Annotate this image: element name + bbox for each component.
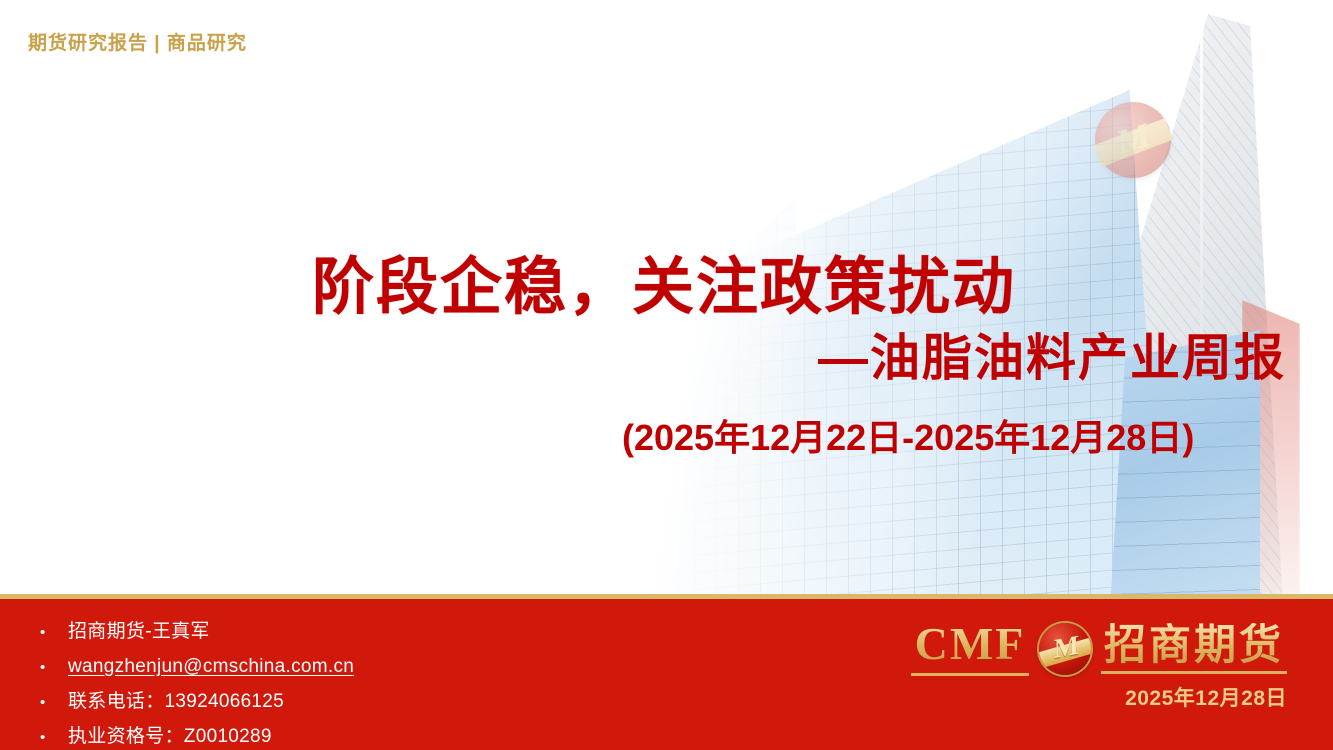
cmf-text: CMF [915,621,1026,669]
analyst-email-link[interactable]: wangzhenjun@cmschina.com.cn [68,652,354,682]
company-name-wordmark: 招商期货 [1101,623,1287,674]
bullet-icon: • [40,723,68,750]
contact-item: • 执业资格号：Z0010289 [40,722,354,750]
contact-item: • wangzhenjun@cmschina.com.cn [40,652,354,683]
contact-item: • 招商期货-王真军 [40,617,354,648]
footer-bar: • 招商期货-王真军 • wangzhenjun@cmschina.com.cn… [0,594,1333,750]
bullet-icon: • [40,653,68,683]
company-logo: CMF M 招商期货 2025年12月28日 [911,621,1287,712]
report-cover-slide: 期货研究报告 | 商品研究 M 阶段企稳，关注政策扰动 —油脂油料产业周报 (2… [0,0,1333,750]
analyst-phone: 联系电话：13924066125 [68,687,284,717]
publish-date: 2025年12月28日 [1125,682,1287,712]
cmf-wordmark: CMF [911,621,1029,676]
analyst-name: 招商期货-王真军 [68,617,210,647]
logo-lockup: CMF M 招商期货 [911,621,1287,676]
company-name-text: 招商期货 [1104,623,1284,667]
report-date-range: (2025年12月22日-2025年12月28日) [622,409,1194,461]
report-category-eyebrow: 期货研究报告 | 商品研究 [28,28,247,55]
bullet-icon: • [40,688,68,718]
emblem-glyph: M [1039,623,1090,675]
cmf-underline [911,673,1029,676]
analyst-license-number: 执业资格号：Z0010289 [68,722,272,750]
page-subtitle: —油脂油料产业周报 [818,318,1286,390]
bullet-icon: • [40,618,68,648]
contact-item: • 联系电话：13924066125 [40,687,354,718]
company-emblem-icon: M [1039,623,1091,675]
contact-list: • 招商期货-王真军 • wangzhenjun@cmschina.com.cn… [40,617,354,750]
company-name-underline [1101,671,1287,674]
page-title: 阶段企稳，关注政策扰动 [312,236,1016,326]
